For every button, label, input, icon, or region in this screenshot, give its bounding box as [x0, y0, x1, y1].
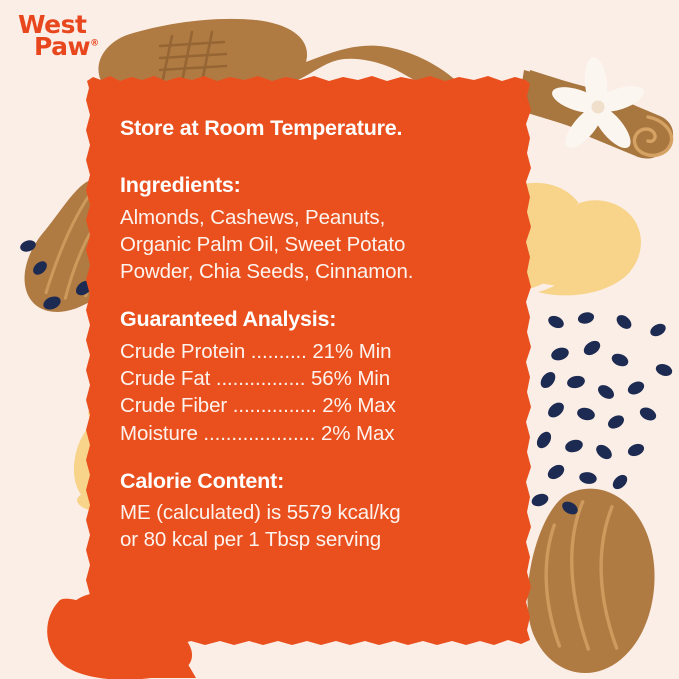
analysis-leader: ....................	[203, 422, 315, 445]
analysis-label: Crude Fiber	[120, 394, 227, 417]
analysis-leader: ..........	[251, 340, 307, 363]
analysis-row: Crude Protein .......... 21% Min	[120, 338, 514, 365]
calorie-content-heading: Calorie Content:	[120, 469, 514, 494]
analysis-value: 56% Min	[311, 367, 390, 390]
analysis-value: 21% Min	[312, 340, 391, 363]
analysis-row: Moisture .................... 2% Max	[120, 420, 514, 447]
guaranteed-analysis-heading: Guaranteed Analysis:	[120, 307, 514, 332]
storage-heading: Store at Room Temperature.	[120, 116, 514, 141]
panel-text-content: Store at Room Temperature. Ingredients: …	[120, 116, 514, 554]
analysis-label: Crude Fat	[120, 367, 210, 390]
analysis-value: 2% Max	[322, 394, 395, 417]
storage-block: Store at Room Temperature.	[120, 116, 514, 141]
calorie-content-line: or 80 kcal per 1 Tbsp serving	[120, 526, 514, 553]
analysis-label: Crude Protein	[120, 340, 245, 363]
analysis-label: Moisture	[120, 422, 198, 445]
calorie-content-block: Calorie Content: ME (calculated) is 5579…	[120, 469, 514, 554]
analysis-leader: ................	[216, 367, 306, 390]
guaranteed-analysis-block: Guaranteed Analysis: Crude Protein .....…	[120, 307, 514, 446]
product-label-graphic: West Paw® Store at Room Temperature. Ing…	[0, 0, 679, 679]
ingredients-line: Almonds, Cashews, Peanuts,	[120, 204, 514, 231]
trademark-symbol: ®	[90, 38, 99, 48]
calorie-content-line: ME (calculated) is 5579 kcal/kg	[120, 499, 514, 526]
west-paw-logo: West Paw®	[18, 14, 128, 57]
analysis-row: Crude Fiber ............... 2% Max	[120, 392, 514, 419]
ingredients-block: Ingredients: Almonds, Cashews, Peanuts, …	[120, 173, 514, 285]
analysis-row: Crude Fat ................ 56% Min	[120, 365, 514, 392]
analysis-value: 2% Max	[321, 422, 394, 445]
ingredients-panel: Store at Room Temperature. Ingredients: …	[84, 74, 532, 648]
ingredients-line: Powder, Chia Seeds, Cinnamon.	[120, 258, 514, 285]
analysis-leader: ...............	[233, 394, 317, 417]
ingredients-heading: Ingredients:	[120, 173, 514, 198]
logo-line-2: Paw®	[18, 36, 128, 58]
ingredients-line: Organic Palm Oil, Sweet Potato	[120, 231, 514, 258]
